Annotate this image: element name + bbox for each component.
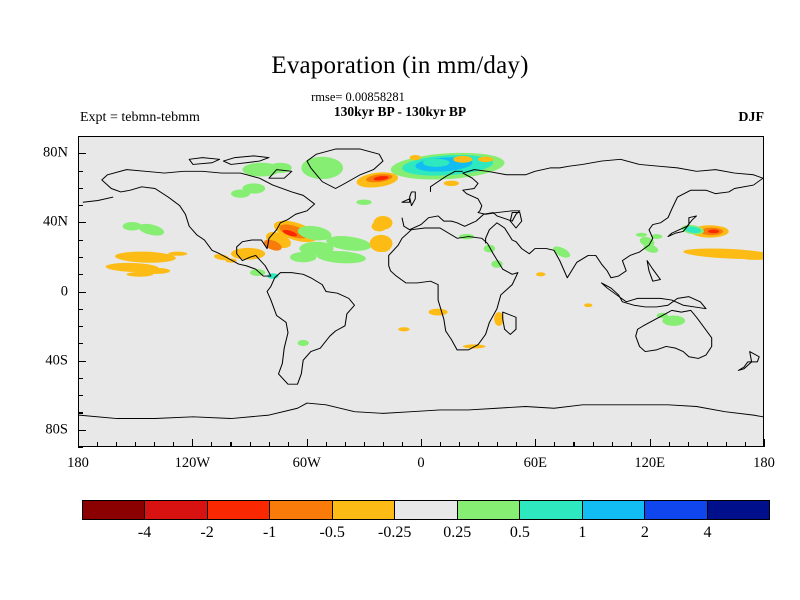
- anomaly-blob: [356, 199, 371, 204]
- anomaly-blob: [423, 159, 450, 167]
- y-tick: [78, 309, 83, 310]
- x-tick: [745, 442, 746, 447]
- experiment-label: Expt = tebmn-tebmm: [80, 110, 200, 126]
- anomaly-blob: [250, 269, 265, 276]
- colorbar-tick-label: -2: [200, 524, 213, 542]
- x-tick: [707, 442, 708, 447]
- world-map-svg: [79, 137, 763, 446]
- anomaly-blob: [375, 242, 390, 252]
- y-tick: [78, 412, 83, 413]
- y-axis-label: 80N: [8, 145, 68, 162]
- colorbar-tick-label: 2: [641, 524, 649, 542]
- y-tick: [78, 361, 86, 362]
- x-axis-label: 120W: [175, 455, 210, 472]
- x-tick: [288, 442, 289, 447]
- y-tick: [78, 395, 83, 396]
- rmse-label: rmse= 0.00858281: [0, 90, 716, 105]
- x-tick: [192, 439, 193, 447]
- x-tick: [250, 442, 251, 447]
- colorbar-tick-label: -0.25: [378, 524, 411, 542]
- x-axis-label: 60E: [524, 455, 547, 472]
- x-tick: [383, 442, 384, 447]
- y-tick: [78, 205, 83, 206]
- x-tick: [459, 442, 460, 447]
- anomaly-blob: [372, 221, 387, 231]
- anomaly-blob: [231, 190, 250, 198]
- y-tick: [78, 136, 83, 137]
- y-axis-label: 40S: [8, 352, 68, 369]
- anomaly-blob: [708, 230, 719, 234]
- anomaly-blob: [123, 222, 142, 231]
- x-tick: [554, 442, 555, 447]
- colorbar-tick-label: -1: [263, 524, 276, 542]
- x-tick: [230, 442, 231, 447]
- x-tick: [211, 442, 212, 447]
- x-axis-label: 60W: [293, 455, 321, 472]
- x-tick: [726, 442, 727, 447]
- colorbar-band[interactable]: [582, 501, 644, 519]
- x-tick: [154, 442, 155, 447]
- y-tick: [78, 292, 86, 293]
- season-label: DJF: [738, 110, 764, 126]
- x-tick: [364, 442, 365, 447]
- evaporation-anomaly-figure: Evaporation (in mm/day) rmse= 0.00858281…: [0, 0, 800, 600]
- anomaly-blob: [444, 181, 459, 186]
- y-tick: [78, 274, 83, 275]
- colorbar-tick-label: 0.5: [510, 524, 530, 542]
- x-tick: [612, 442, 613, 447]
- colorbar-band[interactable]: [144, 501, 206, 519]
- colorbar-band[interactable]: [457, 501, 519, 519]
- x-tick: [516, 442, 517, 447]
- x-tick: [269, 442, 270, 447]
- colorbar-band[interactable]: [332, 501, 394, 519]
- y-tick: [78, 153, 86, 154]
- x-tick: [326, 442, 327, 447]
- anomaly-blob: [536, 272, 546, 276]
- anomaly-blob: [168, 252, 187, 256]
- colorbar-tick-label: -4: [138, 524, 151, 542]
- anomaly-blob: [584, 303, 592, 307]
- x-tick: [307, 439, 308, 447]
- y-axis-label: 80S: [8, 421, 68, 438]
- anomaly-blob: [290, 252, 317, 262]
- x-tick: [440, 442, 441, 447]
- colorbar-band[interactable]: [83, 501, 144, 519]
- anomaly-blob: [636, 233, 647, 237]
- x-tick: [573, 442, 574, 447]
- x-tick: [345, 442, 346, 447]
- y-tick: [78, 188, 83, 189]
- y-tick: [78, 257, 83, 258]
- x-tick: [631, 442, 632, 447]
- y-tick: [78, 378, 83, 379]
- map-plot-area: [78, 136, 764, 447]
- x-tick: [593, 442, 594, 447]
- y-tick: [78, 171, 83, 172]
- x-tick: [173, 442, 174, 447]
- x-tick: [97, 442, 98, 447]
- anomaly-blob: [298, 340, 309, 346]
- x-tick: [669, 442, 670, 447]
- colorbar-tick-label: 1: [578, 524, 586, 542]
- map-background: [79, 137, 763, 446]
- y-axis-label: 0: [8, 283, 68, 300]
- colorbar-band[interactable]: [269, 501, 331, 519]
- colorbar-band[interactable]: [707, 501, 769, 519]
- x-tick: [650, 439, 651, 447]
- colorbar-tick-label: 0.25: [443, 524, 471, 542]
- y-axis-label: 40N: [8, 214, 68, 231]
- page-title: Evaporation (in mm/day): [0, 52, 800, 80]
- anomaly-blob: [429, 309, 448, 316]
- x-tick: [688, 442, 689, 447]
- anomaly-blob: [453, 156, 472, 163]
- y-tick: [78, 430, 86, 431]
- colorbar-tick-label: 4: [703, 524, 711, 542]
- x-tick: [402, 442, 403, 447]
- colorbar[interactable]: [82, 500, 770, 520]
- x-tick: [421, 439, 422, 447]
- x-tick: [764, 439, 765, 447]
- x-axis-label: 120E: [634, 455, 665, 472]
- colorbar-band[interactable]: [644, 501, 706, 519]
- x-tick: [116, 442, 117, 447]
- y-tick: [78, 447, 83, 448]
- x-axis-label: 180: [67, 455, 89, 472]
- x-axis-label: 180: [753, 455, 775, 472]
- x-tick: [535, 439, 536, 447]
- colorbar-tick-label: -0.5: [320, 524, 345, 542]
- x-tick: [497, 442, 498, 447]
- x-tick: [478, 442, 479, 447]
- x-axis-label: 0: [417, 455, 424, 472]
- anomaly-blob: [410, 155, 421, 160]
- x-tick: [78, 439, 79, 447]
- y-tick: [78, 326, 83, 327]
- anomaly-blob: [398, 327, 409, 331]
- colorbar-band[interactable]: [519, 501, 581, 519]
- anomaly-blob: [127, 272, 154, 277]
- y-tick: [78, 222, 86, 223]
- colorbar-band[interactable]: [394, 501, 456, 519]
- x-tick: [135, 442, 136, 447]
- y-tick: [78, 240, 83, 241]
- y-tick: [78, 343, 83, 344]
- anomaly-blob: [269, 163, 292, 173]
- anomaly-blob: [478, 157, 493, 162]
- colorbar-band[interactable]: [207, 501, 269, 519]
